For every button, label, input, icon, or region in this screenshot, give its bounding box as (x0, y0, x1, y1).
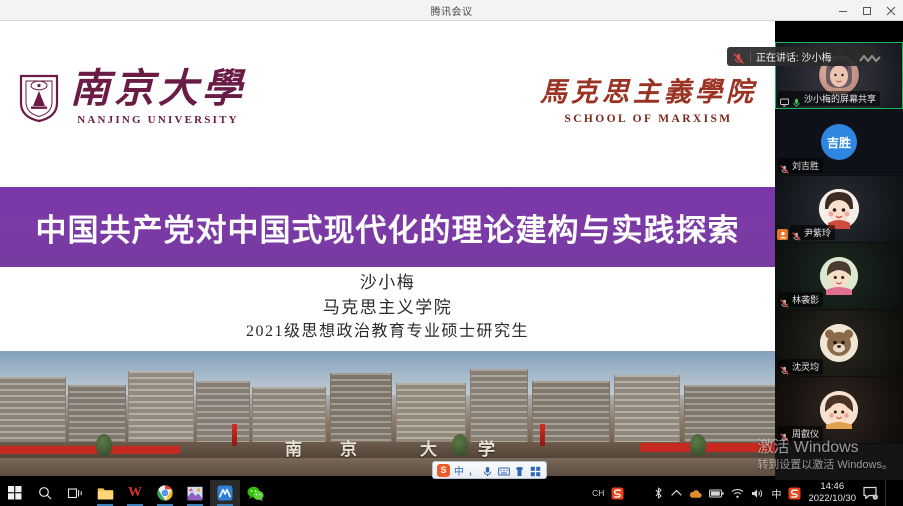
flag (232, 424, 237, 446)
action-center-icon[interactable]: 1 (863, 486, 878, 500)
participant-nametag: 沈灵均 (778, 359, 823, 374)
task-view-icon[interactable] (60, 480, 90, 506)
microphone-muted-icon (780, 161, 789, 170)
participant-name: 尹紫玲 (804, 226, 831, 239)
avatar (820, 257, 858, 295)
taskbar-app-wechat[interactable] (240, 480, 270, 506)
participant-nametag: 尹紫玲 (790, 225, 835, 240)
microphone-icon (792, 94, 801, 103)
ime-toolbar[interactable]: S 中 ， (432, 461, 547, 479)
participant-nametag: 沙小梅的屏幕共享 (778, 91, 880, 106)
tray-battery-icon[interactable] (709, 489, 724, 498)
apps-icon[interactable] (530, 464, 542, 476)
building (196, 381, 250, 451)
ime-punctuation-toggle[interactable]: ， (468, 463, 478, 478)
school-of-marxism-logo: 馬克思主義學院 SCHOOL OF MARXISM (540, 79, 757, 125)
svg-text:1: 1 (874, 495, 876, 499)
participant-tile[interactable]: 吉胜 刘吉胜 (775, 109, 903, 176)
nanjing-university-crest-icon (18, 73, 60, 123)
keyboard-icon[interactable] (498, 464, 510, 476)
participant-name: 林袭影 (792, 293, 819, 306)
avatar (820, 391, 858, 429)
participant-tile[interactable]: 林袭影 (775, 243, 903, 310)
taskbar-left-group: W (0, 480, 270, 506)
taskbar-app-photos[interactable] (180, 480, 210, 506)
nju-name-cn: 南京大學 (70, 69, 246, 109)
participant-name: 沙小梅的屏幕共享 (804, 92, 876, 105)
close-button[interactable] (879, 0, 903, 21)
participant-name: 刘吉胜 (792, 159, 819, 172)
slide-title-band: 中国共产党对中国式现代化的理论建构与实践探索 (0, 187, 775, 267)
building (0, 377, 66, 451)
stone-char: 南 (285, 435, 302, 460)
nanjing-university-logo: 南京大學 NANJING UNIVERSITY (18, 69, 246, 126)
taskbar-clock[interactable]: 14:46 2022/10/30 (808, 481, 856, 505)
presentation-slide: 南京大學 NANJING UNIVERSITY 馬克思主義學院 SCHOOL O… (0, 21, 775, 476)
ime-language-toggle[interactable]: 中 (454, 463, 464, 478)
tray-onedrive-icon[interactable] (689, 488, 702, 499)
campus-photo: 南 京 大 学 (0, 351, 775, 476)
building (614, 375, 680, 451)
taskbar-app-wps-office[interactable]: W (120, 480, 150, 506)
shared-screen-stage: 南京大學 NANJING UNIVERSITY 馬克思主義學院 SCHOOL O… (0, 21, 903, 480)
host-badge-icon (777, 229, 788, 240)
microphone-muted-icon (780, 429, 789, 438)
tencent-meeting-window: 腾讯会议 (0, 0, 903, 506)
start-icon[interactable] (0, 480, 30, 506)
microphone-muted-icon (780, 295, 789, 304)
avatar (820, 324, 858, 362)
red-banner (640, 443, 775, 452)
tray-chevron-up-icon[interactable] (671, 489, 682, 497)
participant-rail[interactable]: 沙小梅的屏幕共享 吉胜 刘吉胜 (775, 42, 903, 480)
stone-char: 京 (340, 435, 357, 460)
windows-taskbar[interactable]: W CH (0, 480, 903, 506)
microphone-muted-icon (780, 362, 789, 371)
sogou-logo-icon[interactable]: S (437, 464, 450, 477)
tray-bluetooth-icon[interactable] (653, 487, 664, 499)
audio-wave-icon (859, 51, 871, 63)
participant-nametag: 刘吉胜 (778, 158, 823, 173)
slide-header: 南京大學 NANJING UNIVERSITY 馬克思主義學院 SCHOOL O… (0, 21, 775, 187)
nju-name-en: NANJING UNIVERSITY (77, 114, 239, 126)
tray-sogou-ime-icon[interactable] (788, 487, 801, 500)
slide-title: 中国共产党对中国式现代化的理论建构与实践探索 (36, 205, 740, 250)
window-title-bar: 腾讯会议 (0, 0, 903, 21)
participant-tile[interactable]: 沈灵均 (775, 310, 903, 377)
stone-char: 学 (478, 435, 495, 460)
show-desktop-button[interactable] (885, 480, 897, 506)
minimize-button[interactable] (831, 0, 855, 21)
taskbar-app-tencent-meeting[interactable] (210, 480, 240, 506)
author-school: 马克思主义学院 (0, 296, 775, 321)
avatar (819, 189, 859, 229)
marxism-name-en: SCHOOL OF MARXISM (564, 113, 732, 125)
window-controls (831, 0, 903, 21)
active-speaker-banner: 正在讲话: 沙小梅 (727, 47, 877, 66)
participant-nametag: 周叡仪 (778, 426, 823, 441)
participant-nametag: 林袭影 (778, 292, 823, 307)
participant-tile[interactable]: 尹紫玲 (775, 176, 903, 243)
microphone-muted-icon (733, 51, 745, 63)
marxism-name-cn: 馬克思主義學院 (540, 79, 757, 106)
maximize-button[interactable] (855, 0, 879, 21)
tray-wifi-icon[interactable] (731, 488, 744, 499)
author-program: 2021级思想政治教育专业硕士研究生 (0, 320, 775, 343)
avatar-initials: 吉胜 (827, 134, 851, 151)
red-banner (0, 446, 180, 454)
participant-name: 沈灵均 (792, 360, 819, 373)
window-title: 腾讯会议 (431, 3, 473, 18)
author-name: 沙小梅 (0, 271, 775, 296)
tray-volume-icon[interactable] (751, 488, 764, 499)
participant-tile[interactable]: 周叡仪 (775, 377, 903, 444)
microphone-icon[interactable] (482, 464, 494, 476)
slide-author-block: 沙小梅 马克思主义学院 2021级思想政治教育专业硕士研究生 (0, 271, 775, 343)
tree (96, 434, 112, 456)
nanjing-university-wordmark: 南京大學 NANJING UNIVERSITY (70, 69, 246, 126)
clock-time: 14:46 (820, 481, 844, 492)
photo-plaza (0, 458, 775, 476)
flag (540, 424, 545, 446)
avatar: 吉胜 (821, 124, 857, 160)
clock-date: 2022/10/30 (808, 493, 856, 504)
tray-ime-cn-icon[interactable]: 中 (771, 486, 781, 501)
active-speaker-label: 正在讲话: 沙小梅 (756, 49, 832, 64)
system-tray[interactable]: CH 中 (592, 480, 903, 506)
tray-sogou-icon[interactable] (611, 487, 624, 500)
search-icon[interactable] (30, 480, 60, 506)
monitor-icon (780, 94, 789, 103)
banner-divider (750, 51, 751, 62)
building (128, 371, 194, 451)
stone-char: 大 (420, 435, 437, 460)
taskbar-app-file-explorer[interactable] (90, 480, 120, 506)
tree (690, 434, 706, 456)
microphone-muted-icon (792, 228, 801, 237)
tray-lang-indicator[interactable]: CH (592, 488, 604, 498)
tree (452, 434, 468, 456)
taskbar-app-google-chrome[interactable] (150, 480, 180, 506)
skin-icon[interactable] (514, 464, 526, 476)
participant-name: 周叡仪 (792, 427, 819, 440)
